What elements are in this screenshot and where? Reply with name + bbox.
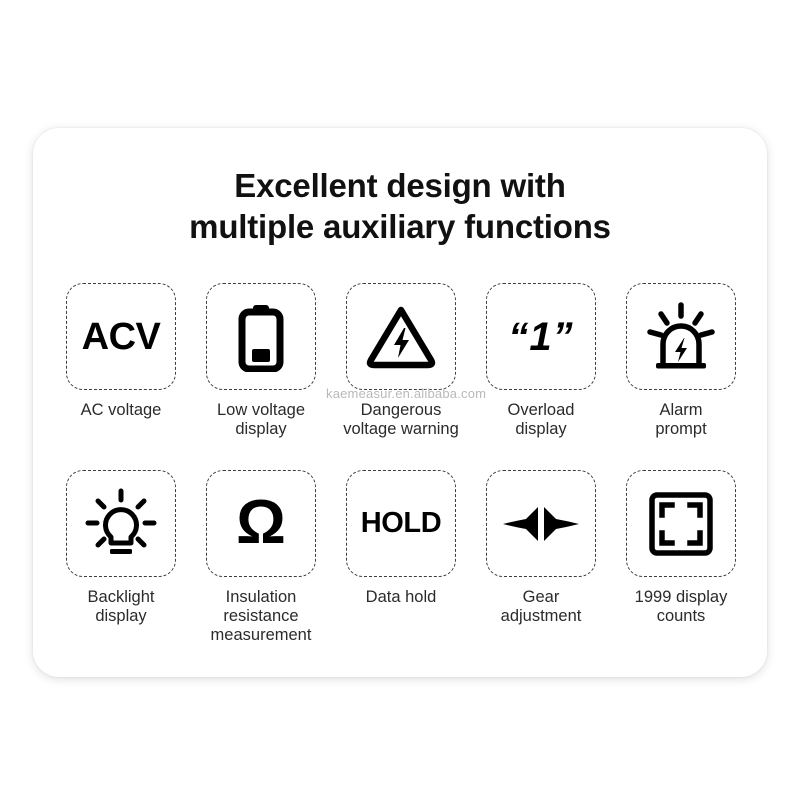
feature-item-alarm-prompt[interactable]: Alarm prompt [611,283,751,439]
feature-item-overload-display[interactable]: “1” Overload display [471,283,611,439]
page-title-line2: multiple auxiliary functions [33,206,767,247]
icon-box: ACV [66,283,176,390]
feature-item-backlight-display[interactable]: Backlight display [51,470,191,645]
page-title: Excellent design with multiple auxiliary… [33,165,767,247]
icon-box [206,283,316,390]
left-right-arrows-icon [501,501,581,547]
feature-label: Dangerous voltage warning [331,401,471,439]
icon-box [486,470,596,577]
screenshot-root: Excellent design with multiple auxiliary… [0,0,800,800]
feature-grid-row-1: ACV AC voltage Low voltage display [51,283,749,439]
feature-label: Backlight display [51,588,191,626]
overload-one-text-icon: “1” [508,317,573,357]
feature-label: Gear adjustment [471,588,611,626]
feature-item-gear-adjustment[interactable]: Gear adjustment [471,470,611,645]
warning-triangle-bolt-icon [365,304,437,370]
hold-text-icon: HOLD [361,509,442,538]
icon-box: HOLD [346,470,456,577]
icon-box [626,283,736,390]
icon-box: Ω [206,470,316,577]
icon-box [346,283,456,390]
feature-item-insulation-resistance[interactable]: Ω Insulation resistance measurement [191,470,331,645]
display-frame-icon [648,491,714,557]
feature-grid-row-2: Backlight display Ω Insulation resistanc… [51,451,749,645]
omega-text-icon: Ω [236,494,286,553]
page-title-line1: Excellent design with [33,165,767,206]
feature-item-dangerous-voltage[interactable]: Dangerous voltage warning [331,283,471,439]
low-battery-icon [231,302,291,372]
icon-box [66,470,176,577]
feature-item-display-counts[interactable]: 1999 display counts [611,470,751,645]
feature-item-ac-voltage[interactable]: ACV AC voltage [51,283,191,439]
feature-label: Data hold [331,588,471,607]
feature-label: Low voltage display [191,401,331,439]
feature-label: Alarm prompt [611,401,751,439]
feature-item-low-voltage[interactable]: Low voltage display [191,283,331,439]
icon-box: “1” [486,283,596,390]
feature-card: Excellent design with multiple auxiliary… [33,128,767,677]
feature-label: 1999 display counts [611,588,751,626]
feature-label: Insulation resistance measurement [191,588,331,645]
feature-label: AC voltage [51,401,191,420]
light-bulb-icon [85,488,157,560]
feature-label: Overload display [471,401,611,439]
icon-box [626,470,736,577]
feature-item-data-hold[interactable]: HOLD Data hold [331,470,471,645]
alarm-beacon-icon [645,302,717,372]
acv-text-icon: ACV [82,318,161,356]
